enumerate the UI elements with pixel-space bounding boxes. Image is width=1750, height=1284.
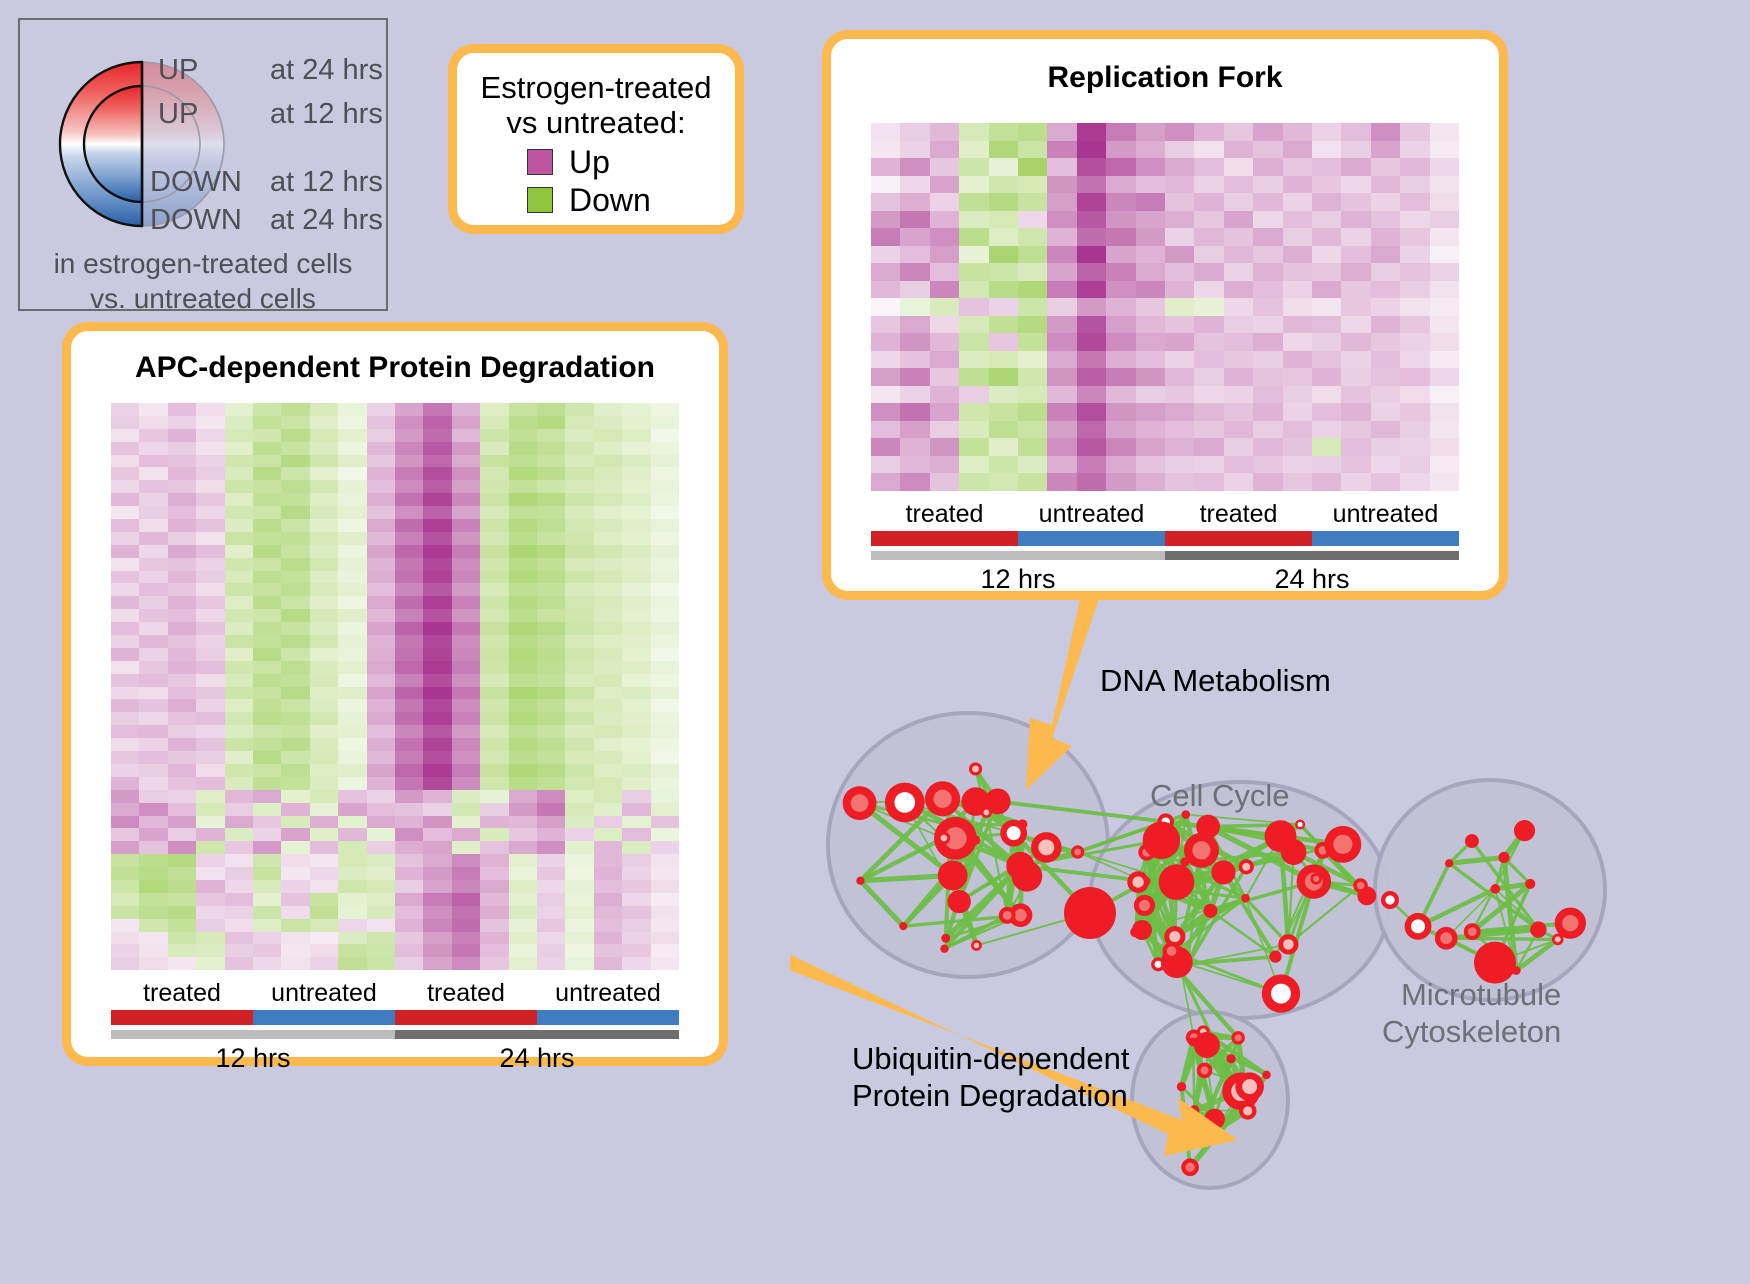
heatmap-cell	[281, 712, 309, 725]
heatmap-cell	[509, 932, 537, 945]
condition-color-bar	[871, 531, 1018, 546]
heatmap-cell	[111, 545, 139, 558]
heatmap-cell	[367, 893, 395, 906]
heatmap-cell	[565, 699, 593, 712]
heatmap-cell	[565, 571, 593, 584]
heatmap-cell	[1224, 211, 1253, 229]
heatmap-cell	[338, 596, 366, 609]
heatmap-cell	[1312, 193, 1341, 211]
network-node-core	[1411, 919, 1425, 933]
heatmap-cell	[111, 893, 139, 906]
heatmap-cell	[1106, 281, 1135, 299]
heatmap-cell	[622, 583, 650, 596]
heatmap-cell	[367, 738, 395, 751]
colorwheel-row-2-label: DOWN	[150, 168, 270, 197]
heatmap-cell	[1136, 316, 1165, 334]
heatmap-cell	[537, 609, 565, 622]
heatmap-cell	[395, 880, 423, 893]
network-node-core	[1440, 932, 1452, 944]
heatmap-cell	[395, 609, 423, 622]
heatmap-cell	[1194, 228, 1223, 246]
heatmap-cell	[168, 816, 196, 829]
heatmap-cell	[281, 519, 309, 532]
heatmap-cell	[959, 228, 988, 246]
network-node-core	[1155, 961, 1162, 968]
heatmap-cell	[139, 635, 167, 648]
heatmap-cell	[565, 596, 593, 609]
heatmap-cell	[1283, 403, 1312, 421]
heatmap-cell	[651, 532, 679, 545]
heatmap-cell	[1047, 123, 1076, 141]
network-node	[1226, 1054, 1235, 1063]
heatmap-cell	[1165, 211, 1194, 229]
heatmap-cell	[900, 386, 929, 404]
heatmap-cell	[225, 545, 253, 558]
heatmap-cell	[959, 473, 988, 491]
heatmap-cell	[594, 558, 622, 571]
heatmap-cell	[480, 609, 508, 622]
heatmap-cell	[423, 932, 451, 945]
heatmap-cell	[196, 828, 224, 841]
replication-fork-title: Replication Fork	[831, 61, 1499, 95]
heatmap-cell	[930, 228, 959, 246]
colorwheel-row-3-label: DOWN	[150, 206, 270, 235]
heatmap-cell	[367, 777, 395, 790]
heatmap-cell	[1283, 456, 1312, 474]
heatmap-cell	[1224, 316, 1253, 334]
heatmap-cell	[367, 790, 395, 803]
heatmap-cell	[196, 532, 224, 545]
heatmap-cell	[622, 777, 650, 790]
heatmap-cell	[225, 764, 253, 777]
heatmap-cell	[1371, 456, 1400, 474]
heatmap-cell	[537, 957, 565, 970]
heatmap-cell	[111, 609, 139, 622]
heatmap-cell	[423, 854, 451, 867]
heatmap-cell	[509, 648, 537, 661]
heatmap-cell	[1106, 141, 1135, 159]
heatmap-cell	[509, 661, 537, 674]
heatmap-cell	[509, 906, 537, 919]
heatmap-cell	[1253, 421, 1282, 439]
heatmap-cell	[139, 803, 167, 816]
heatmap-cell	[111, 558, 139, 571]
heatmap-cell	[930, 158, 959, 176]
heatmap-cell	[537, 429, 565, 442]
heatmap-cell	[1047, 438, 1076, 456]
heatmap-cell	[1106, 473, 1135, 491]
heatmap-cell	[594, 455, 622, 468]
heatmap-cell	[480, 725, 508, 738]
heatmap-cell	[1341, 456, 1370, 474]
heatmap-cell	[1400, 298, 1429, 316]
network-node-core	[1468, 837, 1475, 844]
heatmap-cell	[622, 467, 650, 480]
heatmap-cell	[367, 635, 395, 648]
heatmap-cell	[1283, 141, 1312, 159]
heatmap-cell	[168, 480, 196, 493]
heatmap-cell	[930, 316, 959, 334]
heatmap-cell	[565, 816, 593, 829]
heatmap-cell	[168, 699, 196, 712]
heatmap-cell	[1136, 473, 1165, 491]
heatmap-cell	[537, 467, 565, 480]
heatmap-cell	[111, 674, 139, 687]
heatmap-cell	[367, 764, 395, 777]
heatmap-cell	[423, 777, 451, 790]
heatmap-cell	[509, 919, 537, 932]
heatmap-cell	[310, 919, 338, 932]
heatmap-cell	[281, 674, 309, 687]
heatmap-cell	[196, 635, 224, 648]
heatmap-cell	[1136, 176, 1165, 194]
heatmap-cell	[1194, 351, 1223, 369]
heatmap-cell	[989, 316, 1018, 334]
heatmap-cell	[1136, 351, 1165, 369]
heatmap-cell	[310, 674, 338, 687]
heatmap-cell	[594, 416, 622, 429]
heatmap-cell	[225, 609, 253, 622]
heatmap-cell	[1018, 351, 1047, 369]
heatmap-cell	[395, 442, 423, 455]
apc-panel: APC-dependent Protein Degradation treate…	[62, 322, 728, 1066]
heatmap-cell	[651, 957, 679, 970]
heatmap-cell	[651, 622, 679, 635]
heatmap-cell	[1253, 456, 1282, 474]
heatmap-cell	[367, 725, 395, 738]
heatmap-cell	[1077, 228, 1106, 246]
heatmap-cell	[871, 141, 900, 159]
heatmap-cell	[281, 506, 309, 519]
heatmap-cell	[1047, 421, 1076, 439]
heatmap-cell	[168, 906, 196, 919]
colorwheel-row-3-time: at 24 hrs	[270, 206, 383, 235]
heatmap-cell	[367, 493, 395, 506]
heatmap-cell	[310, 816, 338, 829]
heatmap-cell	[509, 442, 537, 455]
network-node-core	[1484, 952, 1506, 974]
heatmap-cell	[1077, 281, 1106, 299]
network-node-core	[1169, 931, 1180, 942]
key-row-up: Up	[457, 146, 735, 178]
heatmap-cell	[1018, 421, 1047, 439]
heatmap-cell	[480, 738, 508, 751]
heatmap-cell	[423, 609, 451, 622]
heatmap-cell	[111, 583, 139, 596]
heatmap-cell	[367, 957, 395, 970]
network-node-core	[933, 790, 951, 808]
heatmap-cell	[959, 263, 988, 281]
heatmap-cell	[310, 867, 338, 880]
apc-condition-labels: treateduntreatedtreateduntreated	[111, 978, 679, 1008]
heatmap-cell	[537, 738, 565, 751]
heatmap-cell	[565, 403, 593, 416]
heatmap-cell	[139, 738, 167, 751]
heatmap-cell	[196, 519, 224, 532]
heatmap-cell	[930, 211, 959, 229]
heatmap-cell	[509, 622, 537, 635]
heatmap-cell	[651, 738, 679, 751]
heatmap-cell	[310, 932, 338, 945]
heatmap-cell	[281, 429, 309, 442]
heatmap-cell	[622, 944, 650, 957]
heatmap-cell	[1430, 403, 1459, 421]
time-label: 12 hrs	[111, 1043, 395, 1074]
heatmap-cell	[537, 455, 565, 468]
heatmap-cell	[1194, 473, 1223, 491]
heatmap-cell	[622, 674, 650, 687]
heatmap-cell	[1106, 298, 1135, 316]
heatmap-cell	[509, 725, 537, 738]
heatmap-cell	[367, 545, 395, 558]
heatmap-cell	[310, 480, 338, 493]
heatmap-cell	[594, 699, 622, 712]
heatmap-cell	[111, 635, 139, 648]
heatmap-cell	[480, 416, 508, 429]
heatmap-cell	[310, 635, 338, 648]
heatmap-cell	[1430, 281, 1459, 299]
heatmap-cell	[1194, 281, 1223, 299]
heatmap-cell	[423, 519, 451, 532]
heatmap-cell	[395, 532, 423, 545]
heatmap-cell	[253, 919, 281, 932]
heatmap-cell	[1077, 141, 1106, 159]
heatmap-cell	[395, 712, 423, 725]
network-node-core	[1200, 1038, 1214, 1052]
heatmap-cell	[253, 816, 281, 829]
heatmap-cell	[594, 944, 622, 957]
heatmap-cell	[225, 880, 253, 893]
colorwheel-legend-box: UP at 24 hrs UP at 12 hrs DOWN at 12 hrs…	[18, 18, 388, 311]
time-color-bar	[111, 1030, 395, 1039]
heatmap-cell	[1400, 228, 1429, 246]
network-node-core	[1272, 828, 1289, 845]
heatmap-cell	[537, 506, 565, 519]
heatmap-cell	[1018, 176, 1047, 194]
heatmap-cell	[168, 661, 196, 674]
heatmap-cell	[367, 583, 395, 596]
heatmap-cell	[651, 906, 679, 919]
heatmap-cell	[537, 699, 565, 712]
heatmap-cell	[1400, 403, 1429, 421]
heatmap-cell	[1371, 368, 1400, 386]
heatmap-cell	[367, 944, 395, 957]
heatmap-cell	[537, 416, 565, 429]
heatmap-cell	[871, 333, 900, 351]
heatmap-cell	[395, 635, 423, 648]
heatmap-cell	[622, 854, 650, 867]
heatmap-cell	[622, 429, 650, 442]
heatmap-cell	[537, 442, 565, 455]
heatmap-cell	[1136, 368, 1165, 386]
heatmap-cell	[423, 699, 451, 712]
heatmap-cell	[565, 661, 593, 674]
heatmap-cell	[1341, 473, 1370, 491]
heatmap-cell	[196, 699, 224, 712]
heatmap-cell	[338, 906, 366, 919]
heatmap-cell	[537, 661, 565, 674]
heatmap-cell	[338, 661, 366, 674]
heatmap-cell	[395, 661, 423, 674]
heatmap-cell	[537, 828, 565, 841]
heatmap-cell	[1371, 246, 1400, 264]
heatmap-cell	[537, 854, 565, 867]
heatmap-cell	[622, 480, 650, 493]
heatmap-cell	[480, 906, 508, 919]
heatmap-cell	[338, 648, 366, 661]
heatmap-cell	[537, 583, 565, 596]
heatmap-cell	[310, 725, 338, 738]
heatmap-cell	[452, 583, 480, 596]
heatmap-cell	[395, 519, 423, 532]
heatmap-cell	[395, 648, 423, 661]
network-node-core	[953, 896, 965, 908]
heatmap-cell	[196, 725, 224, 738]
heatmap-cell	[168, 648, 196, 661]
heatmap-cell	[651, 442, 679, 455]
heatmap-cell	[423, 893, 451, 906]
heatmap-cell	[253, 880, 281, 893]
heatmap-cell	[1371, 158, 1400, 176]
time-label: 12 hrs	[871, 564, 1165, 595]
heatmap-cell	[168, 841, 196, 854]
heatmap-cell	[959, 193, 988, 211]
heatmap-cell	[196, 880, 224, 893]
heatmap-cell	[423, 841, 451, 854]
heatmap-cell	[989, 263, 1018, 281]
heatmap-cell	[594, 893, 622, 906]
heatmap-cell	[871, 176, 900, 194]
heatmap-cell	[1283, 438, 1312, 456]
heatmap-cell	[480, 828, 508, 841]
heatmap-cell	[139, 841, 167, 854]
heatmap-cell	[367, 712, 395, 725]
replication-fork-time-labels: 12 hrs24 hrs	[871, 564, 1459, 595]
heatmap-cell	[139, 622, 167, 635]
heatmap-cell	[989, 246, 1018, 264]
heatmap-cell	[509, 828, 537, 841]
heatmap-cell	[452, 545, 480, 558]
heatmap-cell	[338, 828, 366, 841]
heatmap-cell	[338, 429, 366, 442]
network-node-core	[968, 794, 983, 809]
heatmap-cell	[225, 687, 253, 700]
heatmap-cell	[959, 246, 988, 264]
heatmap-cell	[452, 493, 480, 506]
heatmap-cell	[1047, 228, 1076, 246]
heatmap-cell	[1047, 298, 1076, 316]
heatmap-cell	[423, 403, 451, 416]
heatmap-cell	[225, 803, 253, 816]
heatmap-cell	[1371, 298, 1400, 316]
heatmap-cell	[281, 493, 309, 506]
heatmap-cell	[509, 583, 537, 596]
heatmap-cell	[395, 803, 423, 816]
heatmap-cell	[1253, 141, 1282, 159]
heatmap-cell	[1253, 246, 1282, 264]
heatmap-cell	[1430, 421, 1459, 439]
heatmap-cell	[537, 571, 565, 584]
heatmap-cell	[509, 609, 537, 622]
heatmap-cell	[565, 519, 593, 532]
heatmap-cell	[1400, 176, 1429, 194]
heatmap-cell	[1430, 333, 1459, 351]
heatmap-cell	[367, 841, 395, 854]
heatmap-cell	[139, 751, 167, 764]
heatmap-cell	[452, 661, 480, 674]
heatmap-cell	[594, 674, 622, 687]
heatmap-cell	[959, 421, 988, 439]
heatmap-cell	[423, 467, 451, 480]
heatmap-cell	[594, 687, 622, 700]
condition-color-bar	[253, 1010, 395, 1025]
heatmap-cell	[395, 545, 423, 558]
heatmap-cell	[622, 880, 650, 893]
heatmap-cell	[225, 828, 253, 841]
heatmap-cell	[1371, 141, 1400, 159]
heatmap-cell	[367, 867, 395, 880]
heatmap-cell	[253, 790, 281, 803]
heatmap-cell	[1371, 386, 1400, 404]
heatmap-cell	[196, 429, 224, 442]
heatmap-cell	[367, 854, 395, 867]
heatmap-cell	[959, 438, 988, 456]
heatmap-cell	[452, 506, 480, 519]
down-label: Down	[569, 184, 651, 216]
heatmap-cell	[480, 480, 508, 493]
heatmap-cell	[225, 622, 253, 635]
heatmap-cell	[139, 777, 167, 790]
heatmap-cell	[1165, 141, 1194, 159]
heatmap-cell	[338, 687, 366, 700]
heatmap-cell	[452, 919, 480, 932]
heatmap-cell	[310, 854, 338, 867]
heatmap-cell	[338, 944, 366, 957]
heatmap-cell	[1106, 403, 1135, 421]
heatmap-cell	[651, 816, 679, 829]
heatmap-cell	[509, 841, 537, 854]
heatmap-cell	[310, 751, 338, 764]
heatmap-cell	[1136, 193, 1165, 211]
heatmap-cell	[338, 467, 366, 480]
heatmap-cell	[537, 558, 565, 571]
heatmap-cell	[537, 790, 565, 803]
heatmap-cell	[168, 828, 196, 841]
heatmap-cell	[1371, 193, 1400, 211]
heatmap-cell	[565, 635, 593, 648]
heatmap-cell	[367, 699, 395, 712]
heatmap-cell	[139, 816, 167, 829]
heatmap-cell	[1253, 228, 1282, 246]
heatmap-cell	[367, 906, 395, 919]
heatmap-cell	[565, 957, 593, 970]
heatmap-cell	[651, 558, 679, 571]
heatmap-cell	[594, 493, 622, 506]
heatmap-cell	[871, 403, 900, 421]
heatmap-cell	[537, 893, 565, 906]
heatmap-cell	[1165, 386, 1194, 404]
heatmap-cell	[395, 841, 423, 854]
heatmap-cell	[480, 635, 508, 648]
heatmap-cell	[1400, 123, 1429, 141]
heatmap-cell	[1194, 403, 1223, 421]
heatmap-cell	[480, 506, 508, 519]
condition-label: treated	[395, 978, 537, 1008]
heatmap-cell	[480, 751, 508, 764]
heatmap-cell	[594, 480, 622, 493]
heatmap-cell	[367, 571, 395, 584]
heatmap-cell	[196, 622, 224, 635]
